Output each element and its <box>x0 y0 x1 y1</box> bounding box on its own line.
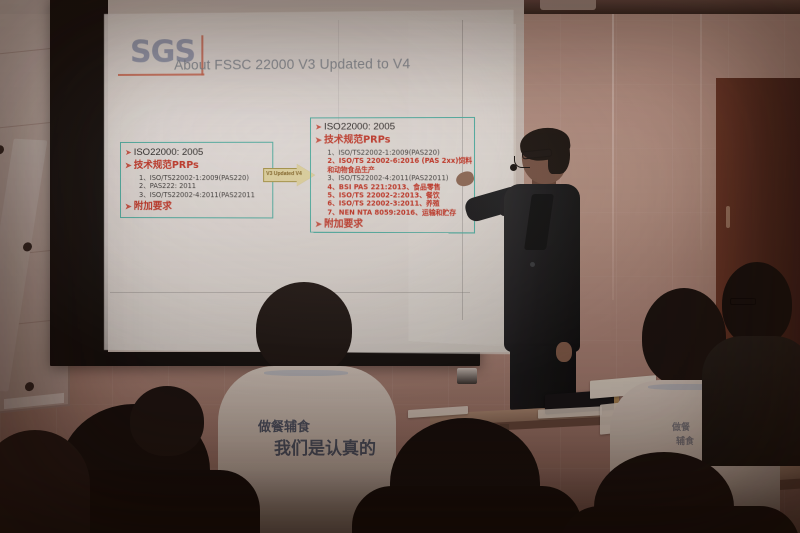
slide-right-box: ➤ISO22000: 2005 ➤技术规范PRPs 1、ISO/TS22002-… <box>310 117 475 233</box>
right-box-heading-3: ➤附加要求 <box>315 219 363 231</box>
right-box-item: 4、BSI PAS 221:2013、食品零售 <box>327 183 472 192</box>
slide-title: About FSSC 22000 V3 Updated to V4 <box>174 56 410 73</box>
foreground-silhouette-center-body <box>352 486 582 533</box>
wall-seam <box>612 0 614 300</box>
left-box-heading-1: ➤ISO22000: 2005 <box>125 147 203 159</box>
right-box-item: 6、ISO/TS 22002-3:2011、养殖 <box>327 200 472 209</box>
wall-seam-2 <box>700 0 702 250</box>
bullet-arrow-icon: ➤ <box>125 161 132 170</box>
bullet-arrow-icon: ➤ <box>315 122 322 131</box>
right-box-item: 和动物食品生产 <box>327 166 472 175</box>
polo-collar <box>264 370 348 376</box>
right-box-item: 3、ISO/TS22002-4:2011(PAS22011) <box>327 174 472 183</box>
bullet-arrow-icon: ➤ <box>315 220 322 229</box>
left-box-item: 3、ISO/TS22002-4:2011(PAS22011 <box>139 191 255 200</box>
right-box-heading-2: ➤技术规范PRPs <box>315 134 390 146</box>
cup <box>457 368 477 384</box>
audience-member-far-right <box>712 262 800 452</box>
bullet-arrow-icon: ➤ <box>125 148 132 157</box>
classroom-scene: SGS About FSSC 22000 V3 Updated to V4 ➤I… <box>0 0 800 533</box>
left-box-heading-2: ➤技术规范PRPs <box>125 160 199 172</box>
shirt-text-line-2: 我们是认真的 <box>274 434 376 459</box>
right-box-item: 2、ISO/TS 22002-6:2016 (PAS 2xx)饲料 <box>327 157 472 166</box>
arrow-label: V3 Updated V4 <box>266 171 302 177</box>
left-box-heading-3: ➤附加要求 <box>125 201 172 213</box>
shirt-text-line-1: 做餐辅食 <box>258 416 310 435</box>
shirt-text-line-2: 辅食 <box>676 434 694 447</box>
bullet-arrow-icon: ➤ <box>125 202 132 211</box>
bullet-arrow-icon: ➤ <box>315 136 322 145</box>
update-arrow: V3 Updated V4 <box>263 164 316 186</box>
audience-head <box>256 282 352 376</box>
ceiling-vent <box>540 0 596 10</box>
audience-head <box>130 386 204 456</box>
sgs-logo-underline <box>118 73 204 75</box>
slide-left-box: ➤ISO22000: 2005 ➤技术规范PRPs 1、ISO/TS22002-… <box>120 142 273 219</box>
left-box-item: 1、ISO/TS22002-1:2009(PAS220) <box>139 174 255 183</box>
door-handle <box>726 206 730 228</box>
glasses-icon <box>730 298 756 305</box>
slide-content: SGS About FSSC 22000 V3 Updated to V4 ➤I… <box>112 15 513 322</box>
presenter <box>470 128 600 410</box>
right-box-item: 7、NEN NTA 8059:2016、运输和贮存 <box>327 208 472 217</box>
shirt-text-line-1: 做餐 <box>672 420 690 433</box>
headset-microphone-icon <box>510 164 517 171</box>
foreground-silhouette-right-body <box>560 506 800 533</box>
right-box-heading-1: ➤ISO22000: 2005 <box>315 121 395 133</box>
audience-member-left-mid <box>126 386 216 506</box>
left-box-item: 2、PAS222: 2011 <box>139 182 255 191</box>
presenter-resting-hand <box>556 342 572 362</box>
audience-torso <box>702 336 800 466</box>
presenter-jacket-button <box>530 262 535 267</box>
